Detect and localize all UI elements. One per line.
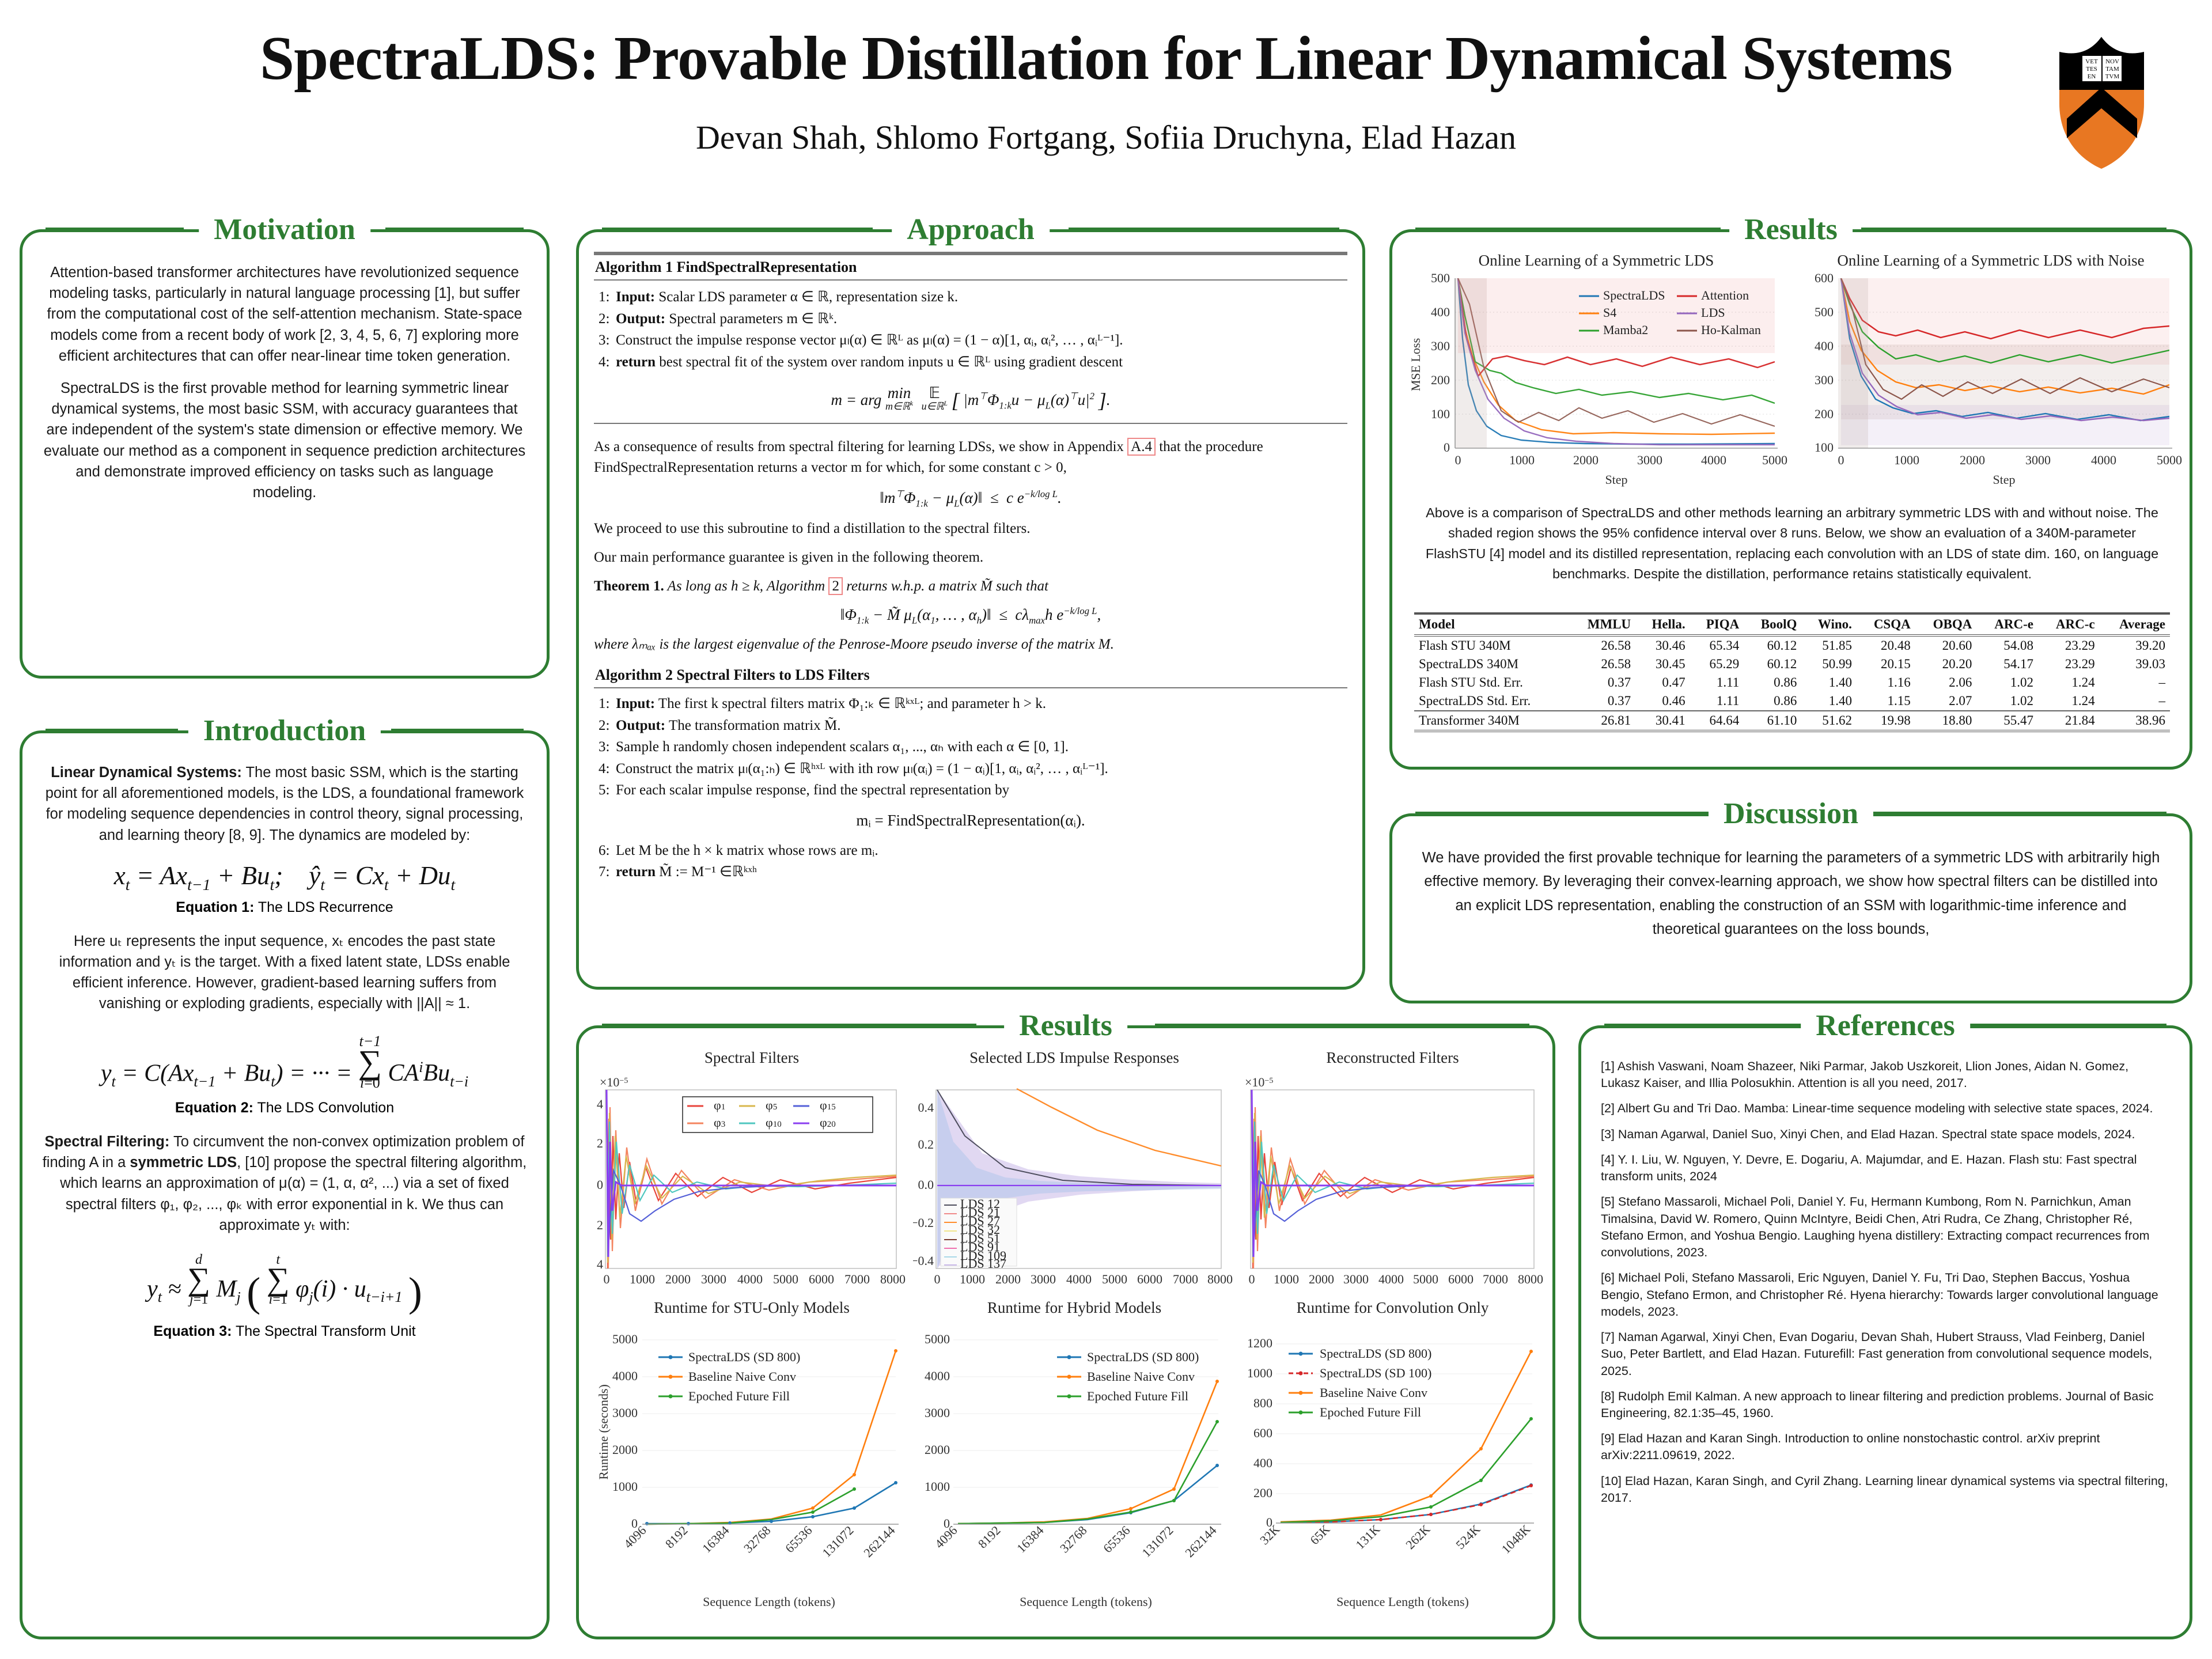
svg-text:Step: Step — [1993, 472, 2015, 487]
svg-text:0.2: 0.2 — [918, 1137, 934, 1152]
table-cell: 1.02 — [1976, 673, 2038, 692]
reference-item: [7] Naman Agarwal, Xinyi Chen, Evan Doga… — [1601, 1329, 2170, 1380]
svg-text:Mamba2: Mamba2 — [1603, 323, 1648, 337]
table-cell: 26.81 — [1569, 711, 1635, 731]
equation-1-text: The LDS Recurrence — [254, 899, 393, 915]
svg-text:4000: 4000 — [2091, 453, 2116, 467]
svg-text:−0.2: −0.2 — [913, 1215, 934, 1230]
svg-text:131072: 131072 — [1139, 1523, 1176, 1560]
svg-text:32768: 32768 — [741, 1523, 774, 1556]
table-cell: 1.02 — [1976, 692, 2038, 711]
svg-text:4000: 4000 — [925, 1369, 950, 1383]
algorithm-step-number: 3: — [599, 736, 616, 758]
panel-title-discussion: Discussion — [1709, 797, 1873, 831]
table-cell: 2.07 — [1915, 692, 1977, 711]
chart-online-lds-title: Online Learning of a Symmetric LDS — [1400, 252, 1792, 270]
algorithm-step-text: Construct the matrix μₗ(α₁:ₕ) ∈ ℝʰˣᴸ wit… — [616, 761, 1108, 777]
panel-results-bottom: Results Spectral Filters ×10−5 420 24 01… — [576, 1025, 1555, 1639]
svg-text:400: 400 — [1431, 305, 1450, 319]
algorithm-step-text: Scalar LDS parameter α ∈ ℝ, representati… — [655, 289, 958, 305]
svg-text:200: 200 — [1815, 407, 1834, 421]
panel-title-motivation: Motivation — [199, 213, 370, 247]
lds-impulse-legend: LDS 12 LDS 21 LDS 27 LDS 32 LDS 51 LDS 9… — [941, 1196, 1017, 1271]
table-cell: 38.96 — [2100, 711, 2170, 731]
motivation-paragraph-1: Attention-based transformer architecture… — [43, 262, 526, 366]
svg-text:EN: EN — [2088, 73, 2096, 80]
table-cell: 30.41 — [1635, 711, 1690, 731]
svg-text:LDS 137: LDS 137 — [960, 1256, 1006, 1271]
table-cell: 65.34 — [1690, 635, 1744, 655]
chart-runtime-stu-only: Runtime for STU-Only Models 500040003000… — [590, 1299, 913, 1622]
svg-text:3000: 3000 — [701, 1272, 726, 1286]
table-cell: 54.17 — [1976, 655, 2038, 673]
svg-text:1000: 1000 — [960, 1272, 985, 1286]
svg-text:4096: 4096 — [932, 1523, 960, 1551]
algorithm-step: 7:return M̃ := M⁻¹ ∈ℝᵏˣʰ — [594, 861, 1347, 883]
table-cell: – — [2100, 673, 2170, 692]
table-column-header: Model — [1414, 613, 1569, 635]
table-cell: 1.24 — [2038, 692, 2100, 711]
chart-spectral-filters: Spectral Filters ×10−5 420 24 010002000 … — [590, 1049, 913, 1302]
intro-mid-paragraph: Here uₜ represents the input sequence, x… — [40, 931, 529, 1014]
table-cell: 2.06 — [1915, 673, 1977, 692]
svg-text:1000: 1000 — [1274, 1272, 1299, 1286]
sf-heading: Spectral Filtering: — [45, 1134, 170, 1150]
table-column-header: Average — [2100, 613, 2170, 635]
svg-text:2000: 2000 — [1960, 453, 1985, 467]
table-cell: 1.11 — [1690, 673, 1744, 692]
algorithm-step-number: 3: — [599, 329, 616, 351]
algorithm-step-text: Spectral parameters m ∈ ℝᵏ. — [665, 311, 837, 327]
svg-text:1000: 1000 — [1247, 1366, 1272, 1380]
svg-text:TAM: TAM — [2105, 66, 2119, 73]
discussion-text: We have provided the first provable tech… — [1420, 846, 2162, 941]
chart-reconstructed-filters: Reconstructed Filters ×10−5 010002000 30… — [1236, 1049, 1550, 1302]
spectral-filters-legend: φ1 φ5 φ15 φ3 φ10 φ20 — [683, 1097, 873, 1132]
table-cell: 51.85 — [1801, 635, 1857, 655]
algorithm-step: 2:Output: Spectral parameters m ∈ ℝᵏ. — [594, 308, 1347, 330]
table-cell: 0.37 — [1569, 673, 1635, 692]
table-cell: 1.40 — [1801, 692, 1857, 711]
svg-text:×10−5: ×10−5 — [1245, 1075, 1273, 1089]
svg-text:2000: 2000 — [995, 1272, 1021, 1286]
algorithm-step: 3:Sample h randomly chosen independent s… — [594, 736, 1347, 758]
theorem-1-label: Theorem 1. — [594, 578, 664, 594]
algorithm-2-steps: 1:Input: The first k spectral filters ma… — [594, 688, 1347, 801]
table-cell: 0.46 — [1635, 692, 1690, 711]
chart-runtime-hybrid-title: Runtime for Hybrid Models — [913, 1299, 1236, 1317]
algorithm-step-keyword: Input: — [616, 696, 655, 711]
svg-text:Epoched Future Fill: Epoched Future Fill — [1320, 1405, 1421, 1419]
table-cell: 64.64 — [1690, 711, 1744, 731]
svg-text:1200: 1200 — [1247, 1336, 1272, 1350]
svg-text:Sequence Length (tokens): Sequence Length (tokens) — [703, 1594, 835, 1609]
svg-text:MSE Loss: MSE Loss — [1408, 338, 1423, 391]
svg-text:4000: 4000 — [737, 1272, 763, 1286]
intro-lds-heading: Linear Dynamical Systems: — [51, 764, 242, 781]
panel-approach: Approach Algorithm 1 FindSpectralReprese… — [576, 229, 1365, 990]
svg-text:32K: 32K — [1257, 1522, 1283, 1548]
intro-spectral-filtering-paragraph: Spectral Filtering: To circumvent the no… — [40, 1131, 529, 1236]
svg-text:500: 500 — [1815, 305, 1834, 319]
svg-text:1000: 1000 — [925, 1479, 950, 1494]
svg-text:5000: 5000 — [773, 1272, 798, 1286]
equation-2-text: The LDS Convolution — [253, 1100, 394, 1116]
algorithm-step-text: The transformation matrix M̃. — [665, 718, 840, 733]
table-cell: 54.08 — [1976, 635, 2038, 655]
algorithm-step-number: 5: — [599, 779, 616, 801]
svg-text:4000: 4000 — [612, 1369, 638, 1383]
svg-text:8000: 8000 — [880, 1272, 906, 1286]
panel-title-introduction: Introduction — [188, 714, 381, 748]
svg-text:Attention: Attention — [1701, 288, 1749, 302]
algorithm-1-objective-equation: m = arg minm∈ℝk 𝔼u∈ℝL [ |m⊤Φ1:ku − μL(α)… — [594, 385, 1347, 412]
reference-item: [2] Albert Gu and Tri Dao. Mamba: Linear… — [1601, 1100, 2170, 1117]
equation-1-label: Equation 1: — [176, 899, 254, 915]
svg-text:5000: 5000 — [612, 1332, 638, 1346]
table-cell: 20.60 — [1915, 635, 1977, 655]
table-column-header: CSQA — [1857, 613, 1915, 635]
svg-text:300: 300 — [1815, 373, 1834, 387]
svg-text:Baseline Naive Conv: Baseline Naive Conv — [1320, 1385, 1427, 1400]
algorithm-step-number: 4: — [599, 351, 616, 373]
svg-text:131072: 131072 — [819, 1523, 856, 1560]
algorithm-2-steps-tail: 6:Let M be the h × k matrix whose rows a… — [594, 840, 1347, 883]
svg-text:0: 0 — [1444, 440, 1450, 454]
svg-text:0.0: 0.0 — [918, 1177, 934, 1192]
algorithm-step: 4:return best spectral fit of the system… — [594, 351, 1347, 373]
algorithm-step-number: 7: — [599, 861, 616, 883]
table-cell: 39.20 — [2100, 635, 2170, 655]
theorem-1-equation: ‖Φ1:k − M̃ μL(α1, … , αh)‖ ≤ cλmaxh e−k/… — [594, 605, 1347, 626]
svg-text:3000: 3000 — [1343, 1272, 1369, 1286]
runtime-stu-legend: SpectraLDS (SD 800) Baseline Naive Conv … — [658, 1350, 800, 1403]
table-column-header: ARC-c — [2038, 613, 2100, 635]
svg-text:300: 300 — [1431, 339, 1450, 353]
table-cell: 26.58 — [1569, 655, 1635, 673]
svg-text:0: 0 — [1249, 1272, 1255, 1286]
panel-title-references: References — [1801, 1009, 1970, 1043]
svg-text:Runtime (seconds): Runtime (seconds) — [596, 1384, 611, 1480]
princeton-shield-logo: VET TES EN NOV TAM TVM — [2056, 16, 2189, 171]
table-cell: SpectraLDS 340M — [1414, 655, 1569, 673]
algorithm-1-name: FindSpectralRepresentation — [673, 259, 857, 275]
table-column-header: OBQA — [1915, 613, 1977, 635]
table-column-header: PIQA — [1690, 613, 1744, 635]
reference-item: [9] Elad Hazan and Karan Singh. Introduc… — [1601, 1430, 2170, 1464]
svg-text:4: 4 — [597, 1257, 603, 1271]
theorem-1-where-line: where λₘₐₓ is the largest eigenvalue of … — [594, 634, 1347, 655]
svg-text:8192: 8192 — [975, 1523, 1003, 1551]
table-cell: 23.29 — [2038, 635, 2100, 655]
algorithm-step-text: best spectral fit of the system over ran… — [656, 354, 1123, 370]
algorithm-1-steps: 1:Input: Scalar LDS parameter α ∈ ℝ, rep… — [594, 281, 1347, 373]
svg-text:16384: 16384 — [1014, 1523, 1047, 1556]
chart-online-lds-noise: Online Learning of a Symmetric LDS with … — [1792, 252, 2190, 494]
algorithm-1-title: Algorithm 1 FindSpectralRepresentation — [594, 255, 1347, 279]
algorithm-step: 5:For each scalar impulse response, find… — [594, 779, 1347, 801]
svg-text:×10−5: ×10−5 — [600, 1075, 628, 1089]
chart-online-lds: Online Learning of a Symmetric LDS 50040… — [1400, 252, 1792, 494]
author-list: Devan Shah, Shlomo Fortgang, Sofiia Druc… — [0, 118, 2212, 157]
svg-text:LDS: LDS — [1701, 305, 1725, 320]
table-cell: 1.11 — [1690, 692, 1744, 711]
svg-text:1000: 1000 — [612, 1479, 638, 1494]
algorithm-step-text: Construct the impulse response vector μₗ… — [616, 332, 1123, 348]
svg-text:5000: 5000 — [1102, 1272, 1127, 1286]
table-cell: 1.16 — [1857, 673, 1915, 692]
table-cell: 20.48 — [1857, 635, 1915, 655]
results-table-wrap: ModelMMLUHella.PIQABoolQWino.CSQAOBQAARC… — [1414, 612, 2170, 732]
table-cell: Flash STU 340M — [1414, 635, 1569, 655]
reference-item: [1] Ashish Vaswani, Noam Shazeer, Niki P… — [1601, 1058, 2170, 1092]
equation-2: yt = C(Axt−1 + But) = ··· = t−1 ∑ i=0 CA… — [40, 1034, 529, 1090]
svg-text:Baseline Naive Conv: Baseline Naive Conv — [1087, 1369, 1195, 1384]
panel-title-approach: Approach — [892, 213, 1050, 247]
theorem-1-text-2: returns w.h.p. a matrix M̃ such that — [843, 578, 1048, 594]
chart-runtime-conv-only: Runtime for Convolution Only 12001000800… — [1236, 1299, 1550, 1622]
table-cell: Flash STU Std. Err. — [1414, 673, 1569, 692]
svg-text:8000: 8000 — [1207, 1272, 1233, 1286]
panel-discussion: Discussion We have provided the first pr… — [1389, 813, 2192, 1003]
table-cell: 21.84 — [2038, 711, 2100, 731]
algorithm-2-title: Algorithm 2 Spectral Filters to LDS Filt… — [594, 663, 1347, 687]
equation-2-label: Equation 2: — [175, 1100, 253, 1116]
algorithm-step: 1:Input: The first k spectral filters ma… — [594, 693, 1347, 715]
algorithm-step: 3:Construct the impulse response vector … — [594, 329, 1347, 351]
svg-text:3000: 3000 — [925, 1406, 950, 1420]
table-cell: 20.15 — [1857, 655, 1915, 673]
svg-text:3000: 3000 — [2025, 453, 2051, 467]
table-cell: 30.45 — [1635, 655, 1690, 673]
algorithm-step-text: The first k spectral filters matrix Φ₁:ₖ… — [655, 696, 1046, 711]
table-cell: 60.12 — [1744, 655, 1801, 673]
chart-runtime-stu-title: Runtime for STU-Only Models — [590, 1299, 913, 1317]
algorithm-step-keyword: return — [616, 864, 656, 880]
svg-text:7000: 7000 — [844, 1272, 870, 1286]
runtime-conv-legend: SpectraLDS (SD 800) SpectraLDS (SD 100) … — [1289, 1346, 1431, 1419]
algorithm-step-keyword: Input: — [616, 289, 655, 305]
svg-text:100: 100 — [1815, 440, 1834, 454]
reference-item: [4] Y. I. Liu, W. Nguyen, Y. Devre, E. D… — [1601, 1152, 2170, 1185]
svg-text:800: 800 — [1253, 1396, 1272, 1410]
svg-text:0: 0 — [604, 1272, 610, 1286]
table-cell: 0.37 — [1569, 692, 1635, 711]
reference-item: [6] Michael Poli, Stefano Massaroli, Eri… — [1601, 1270, 2170, 1320]
algorithm-step-text: Sample h randomly chosen independent sca… — [616, 739, 1069, 755]
svg-text:1048K: 1048K — [1499, 1522, 1533, 1556]
reference-list: [1] Ashish Vaswani, Noam Shazeer, Niki P… — [1581, 1028, 2190, 1506]
svg-text:65536: 65536 — [1100, 1523, 1133, 1556]
svg-text:S4: S4 — [1603, 305, 1616, 320]
svg-text:262K: 262K — [1403, 1522, 1433, 1552]
reference-item: [10] Elad Hazan, Karan Singh, and Cyril … — [1601, 1473, 2170, 1506]
algorithm-step-number: 2: — [599, 715, 616, 737]
table-cell: 1.24 — [2038, 673, 2100, 692]
svg-text:2: 2 — [597, 1218, 603, 1232]
chart-runtime-hybrid: Runtime for Hybrid Models 500040003000 2… — [913, 1299, 1236, 1622]
table-row: SpectraLDS 340M26.5830.4565.2960.1250.99… — [1414, 655, 2170, 673]
reference-item: [5] Stefano Massaroli, Michael Poli, Dan… — [1601, 1194, 2170, 1261]
table-cell: 20.20 — [1915, 655, 1977, 673]
svg-text:8192: 8192 — [662, 1523, 691, 1551]
algorithm-step-number: 1: — [599, 286, 616, 308]
table-row: SpectraLDS Std. Err.0.370.461.110.861.40… — [1414, 692, 2170, 711]
algorithm-step-number: 6: — [599, 840, 616, 862]
page-title: SpectraLDS: Provable Distillation for Li… — [0, 23, 2212, 94]
table-cell: 23.29 — [2038, 655, 2100, 673]
svg-text:600: 600 — [1253, 1426, 1272, 1440]
svg-text:4: 4 — [597, 1097, 603, 1111]
chart-online-lds-noise-title: Online Learning of a Symmetric LDS with … — [1792, 252, 2190, 270]
svg-text:262144: 262144 — [861, 1523, 897, 1560]
table-cell: – — [2100, 692, 2170, 711]
table-row: Flash STU 340M26.5830.4665.3460.1251.852… — [1414, 635, 2170, 655]
table-row: Flash STU Std. Err.0.370.471.110.861.401… — [1414, 673, 2170, 692]
theorem-1: Theorem 1. As long as h ≥ k, Algorithm 2… — [594, 576, 1347, 597]
svg-text:100: 100 — [1431, 407, 1450, 421]
panel-references: References [1] Ashish Vaswani, Noam Shaz… — [1578, 1025, 2192, 1639]
svg-text:2000: 2000 — [925, 1442, 950, 1457]
algorithm-step: 4:Construct the matrix μₗ(α₁:ₕ) ∈ ℝʰˣᴸ w… — [594, 758, 1347, 780]
svg-text:Ho-Kalman: Ho-Kalman — [1701, 323, 1761, 337]
panel-motivation: Motivation Attention-based transformer a… — [20, 229, 550, 679]
equation-3-label: Equation 3: — [153, 1323, 232, 1339]
algorithm-2-number: Algorithm 2 — [595, 666, 673, 683]
svg-text:0: 0 — [1455, 453, 1461, 467]
table-cell: 50.99 — [1801, 655, 1857, 673]
runtime-hybrid-legend: SpectraLDS (SD 800) Baseline Naive Conv … — [1057, 1350, 1199, 1403]
table-column-header: MMLU — [1569, 613, 1635, 635]
approach-proceed-line: We proceed to use this subroutine to fin… — [594, 518, 1347, 539]
svg-text:4096: 4096 — [621, 1523, 649, 1551]
svg-text:SpectraLDS (SD 800): SpectraLDS (SD 800) — [1320, 1346, 1431, 1361]
svg-text:1000: 1000 — [1894, 453, 1919, 467]
svg-text:0.4: 0.4 — [918, 1100, 934, 1115]
table-cell: 0.47 — [1635, 673, 1690, 692]
svg-text:Sequence Length (tokens): Sequence Length (tokens) — [1336, 1594, 1469, 1609]
svg-text:TES: TES — [2086, 66, 2097, 73]
table-cell: 39.03 — [2100, 655, 2170, 673]
approach-bound-equation: ‖m⊤Φ1:k − μL(α)‖ ≤ c e−k/log L. — [594, 488, 1347, 509]
svg-text:2000: 2000 — [665, 1272, 691, 1286]
panel-results-top: Results Online Learning of a Symmetric L… — [1389, 229, 2192, 770]
algorithm-step: 1:Input: Scalar LDS parameter α ∈ ℝ, rep… — [594, 286, 1347, 308]
svg-text:5000: 5000 — [1413, 1272, 1438, 1286]
svg-text:2000: 2000 — [1309, 1272, 1334, 1286]
table-cell: SpectraLDS Std. Err. — [1414, 692, 1569, 711]
svg-text:SpectraLDS (SD 800): SpectraLDS (SD 800) — [688, 1350, 800, 1364]
table-cell: 51.62 — [1801, 711, 1857, 731]
svg-text:3000: 3000 — [1637, 453, 1662, 467]
table-column-header: BoolQ — [1744, 613, 1801, 635]
chart-lds-impulse: Selected LDS Impulse Responses 0.40.20.0… — [913, 1049, 1236, 1302]
svg-text:400: 400 — [1253, 1456, 1272, 1470]
svg-text:3000: 3000 — [1031, 1272, 1056, 1286]
table-cell: Transformer 340M — [1414, 711, 1569, 731]
poster-header: SpectraLDS: Provable Distillation for Li… — [0, 0, 2212, 196]
algorithm-step: 2:Output: The transformation matrix M̃. — [594, 715, 1347, 737]
svg-text:VET: VET — [2085, 58, 2098, 65]
table-cell: 65.29 — [1690, 655, 1744, 673]
reference-item: [3] Naman Agarwal, Daniel Suo, Xinyi Che… — [1601, 1126, 2170, 1143]
svg-text:200: 200 — [1431, 373, 1450, 387]
intro-lds-paragraph: Linear Dynamical Systems: The most basic… — [40, 762, 529, 846]
svg-text:32768: 32768 — [1057, 1523, 1090, 1556]
svg-text:16384: 16384 — [699, 1523, 732, 1556]
svg-text:0: 0 — [597, 1177, 603, 1192]
sf-bold-2: symmetric LDS — [130, 1154, 237, 1171]
svg-text:SpectraLDS (SD 800): SpectraLDS (SD 800) — [1087, 1350, 1199, 1364]
appendix-reference-badge[interactable]: A.4 — [1127, 438, 1156, 456]
svg-text:0: 0 — [1838, 453, 1844, 467]
svg-text:SpectraLDS: SpectraLDS — [1603, 288, 1665, 302]
svg-text:SpectraLDS (SD 100): SpectraLDS (SD 100) — [1320, 1366, 1431, 1380]
svg-text:3000: 3000 — [612, 1406, 638, 1420]
approach-guarantee-line: Our main performance guarantee is given … — [594, 547, 1347, 568]
svg-text:5000: 5000 — [925, 1332, 950, 1346]
svg-text:0: 0 — [934, 1272, 941, 1286]
svg-text:Step: Step — [1605, 472, 1627, 487]
svg-text:524K: 524K — [1453, 1522, 1483, 1552]
algorithm-reference-badge[interactable]: 2 — [828, 577, 843, 595]
table-cell: 19.98 — [1857, 711, 1915, 731]
svg-text:500: 500 — [1431, 271, 1450, 285]
algorithm-step-number: 1: — [599, 693, 616, 715]
svg-text:5000: 5000 — [1762, 453, 1787, 467]
table-body: Flash STU 340M26.5830.4665.3460.1251.852… — [1414, 635, 2170, 731]
panel-introduction: Introduction Linear Dynamical Systems: T… — [20, 730, 550, 1639]
table-cell: 60.12 — [1744, 635, 1801, 655]
svg-text:7000: 7000 — [1483, 1272, 1508, 1286]
reference-item: [8] Rudolph Emil Kalman. A new approach … — [1601, 1388, 2170, 1422]
algorithm-step-text: For each scalar impulse response, find t… — [616, 782, 1009, 798]
equation-1: xt = Axt−1 + But; ŷt = Cxt + Dut — [40, 861, 529, 895]
table-column-header: ARC-e — [1976, 613, 2038, 635]
svg-text:Epoched Future Fill: Epoched Future Fill — [1087, 1389, 1188, 1403]
table-row: Transformer 340M26.8130.4164.6461.1051.6… — [1414, 711, 2170, 731]
svg-text:5000: 5000 — [2157, 453, 2182, 467]
svg-text:400: 400 — [1815, 339, 1834, 353]
svg-text:2000: 2000 — [612, 1442, 638, 1457]
svg-text:TVM: TVM — [2105, 73, 2120, 80]
results-table: ModelMMLUHella.PIQABoolQWino.CSQAOBQAARC… — [1414, 612, 2170, 732]
algorithm-step-number: 2: — [599, 308, 616, 330]
table-cell: 61.10 — [1744, 711, 1801, 731]
algorithm-step-text: M̃ := M⁻¹ ∈ℝᵏˣʰ — [656, 864, 757, 880]
results-top-caption: Above is a comparison of SpectraLDS and … — [1418, 503, 2166, 584]
table-column-header: Hella. — [1635, 613, 1690, 635]
svg-text:Baseline Naive Conv: Baseline Naive Conv — [688, 1369, 796, 1384]
motivation-paragraph-2: SpectraLDS is the first provable method … — [43, 378, 526, 503]
algorithm-step-text: Let M be the h × k matrix whose rows are… — [616, 843, 878, 858]
svg-text:Epoched Future Fill: Epoched Future Fill — [688, 1389, 790, 1403]
equation-1-caption: Equation 1: The LDS Recurrence — [40, 899, 529, 916]
table-cell: 55.47 — [1976, 711, 2038, 731]
table-cell: 18.80 — [1915, 711, 1977, 731]
approach-consequence-paragraph: As a consequence of results from spectra… — [594, 437, 1347, 479]
svg-text:262144: 262144 — [1182, 1523, 1219, 1560]
table-cell: 1.15 — [1857, 692, 1915, 711]
table-cell: 26.58 — [1569, 635, 1635, 655]
equation-2-caption: Equation 2: The LDS Convolution — [40, 1100, 529, 1116]
equation-3: yt ≈ d ∑ j=1 Mj ( t ∑ i=1 φj(i) · ut−i+1… — [40, 1253, 529, 1313]
svg-text:6000: 6000 — [1448, 1272, 1474, 1286]
svg-text:6000: 6000 — [1137, 1272, 1162, 1286]
equation-3-text: The Spectral Transform Unit — [232, 1323, 416, 1339]
svg-text:2: 2 — [597, 1136, 603, 1150]
svg-text:65K: 65K — [1307, 1522, 1333, 1548]
